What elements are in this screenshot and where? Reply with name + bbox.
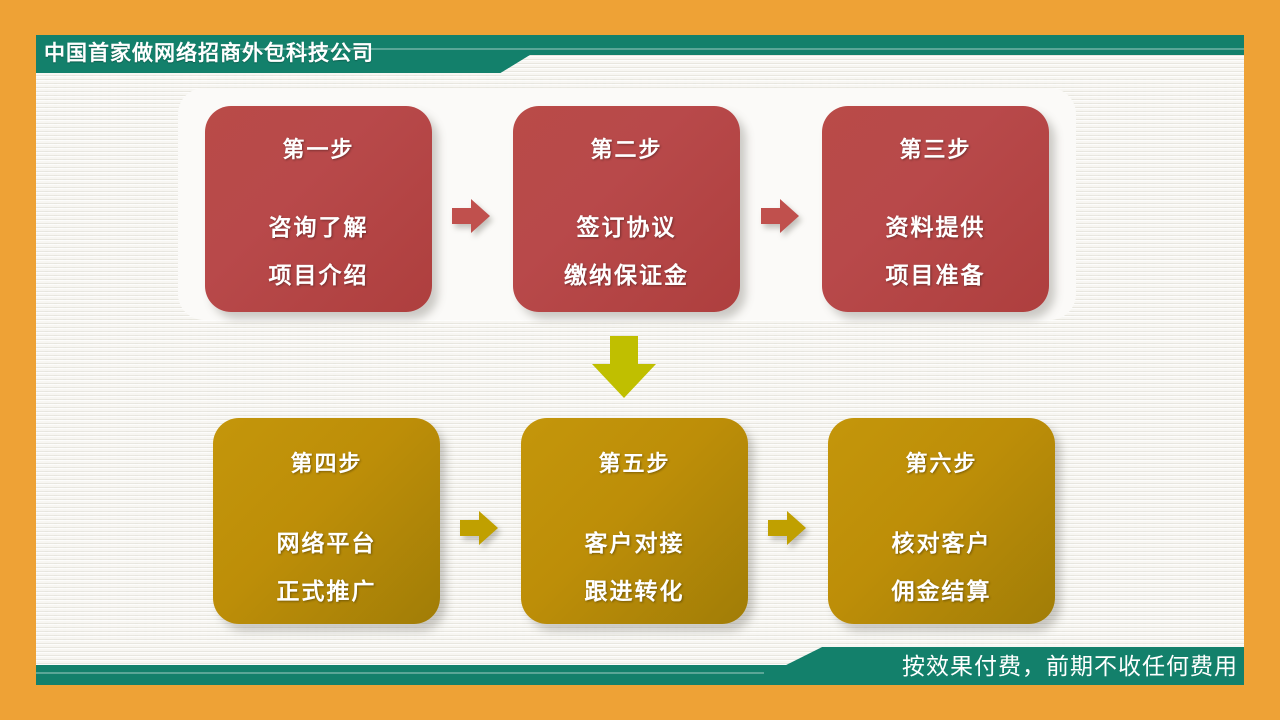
step-card-6-line1: 核对客户 xyxy=(892,524,992,558)
slide-root: 中国首家做网络招商外包科技公司 第一步 咨询了解 项目介绍 第二步 签订协议 缴… xyxy=(0,0,1280,720)
header-hairline xyxy=(240,48,1244,50)
step-card-2-line1: 签订协议 xyxy=(577,208,677,242)
arrow-right-icon xyxy=(761,196,799,236)
step-card-2-line2: 缴纳保证金 xyxy=(564,256,689,290)
arrow-down-icon xyxy=(592,336,656,398)
step-card-1-line2: 项目介绍 xyxy=(269,256,369,290)
step-card-5[interactable]: 第五步 客户对接 跟进转化 xyxy=(521,418,748,624)
page-title: 中国首家做网络招商外包科技公司 xyxy=(44,38,374,70)
step-card-3[interactable]: 第三步 资料提供 项目准备 xyxy=(822,106,1049,312)
arrow-right-icon xyxy=(452,196,490,236)
step-card-5-title: 第五步 xyxy=(598,446,670,478)
step-card-5-line1: 客户对接 xyxy=(585,524,685,558)
step-card-4[interactable]: 第四步 网络平台 正式推广 xyxy=(213,418,440,624)
step-card-4-line2: 正式推广 xyxy=(277,572,377,606)
footer-diagonal-cut xyxy=(36,643,822,665)
step-card-2[interactable]: 第二步 签订协议 缴纳保证金 xyxy=(513,106,740,312)
step-card-6-title: 第六步 xyxy=(905,446,977,478)
step-card-1[interactable]: 第一步 咨询了解 项目介绍 xyxy=(205,106,432,312)
footer-hairline xyxy=(36,672,764,674)
step-card-4-line1: 网络平台 xyxy=(277,524,377,558)
step-card-1-title: 第一步 xyxy=(282,132,354,164)
step-card-1-line1: 咨询了解 xyxy=(269,208,369,242)
step-card-5-line2: 跟进转化 xyxy=(585,572,685,606)
step-card-6[interactable]: 第六步 核对客户 佣金结算 xyxy=(828,418,1055,624)
step-card-4-title: 第四步 xyxy=(290,446,362,478)
step-card-3-line2: 项目准备 xyxy=(886,256,986,290)
footer-tagline: 按效果付费，前期不收任何费用 xyxy=(902,649,1238,683)
step-card-2-title: 第二步 xyxy=(590,132,662,164)
arrow-right-icon xyxy=(460,508,498,548)
header-diagonal-cut xyxy=(458,55,1244,77)
arrow-right-icon xyxy=(768,508,806,548)
step-card-3-title: 第三步 xyxy=(899,132,971,164)
step-card-3-line1: 资料提供 xyxy=(886,208,986,242)
step-card-6-line2: 佣金结算 xyxy=(892,572,992,606)
